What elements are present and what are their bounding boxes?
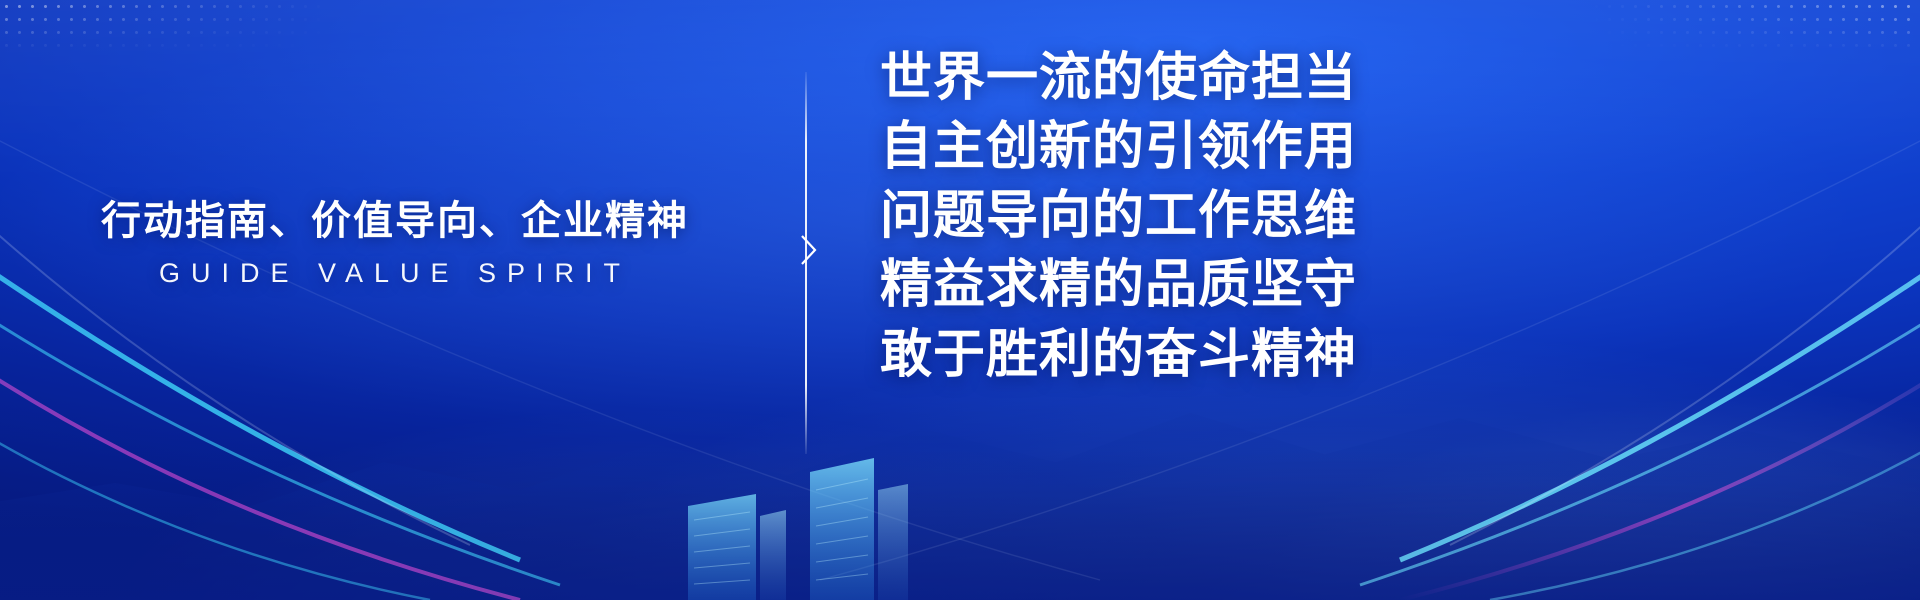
right-line-3: 问题导向的工作思维 xyxy=(880,182,1400,251)
right-line-1: 世界一流的使命担当 xyxy=(880,44,1400,113)
right-line-5: 敢于胜利的奋斗精神 xyxy=(880,321,1400,390)
left-subtitle-en: GUIDE VALUE SPIRIT xyxy=(0,258,790,289)
right-line-2: 自主创新的引领作用 xyxy=(880,113,1400,182)
chevron-right-icon xyxy=(798,232,820,268)
right-line-4: 精益求精的品质坚守 xyxy=(880,251,1400,320)
left-title-cn: 行动指南、价值导向、企业精神 xyxy=(0,198,790,244)
left-text-block: 行动指南、价值导向、企业精神 GUIDE VALUE SPIRIT xyxy=(0,198,790,289)
dot-grid-icon xyxy=(1590,0,1920,52)
dot-grid-icon xyxy=(0,0,330,52)
city-buildings-icon xyxy=(660,420,990,600)
hero-banner: 行动指南、价值导向、企业精神 GUIDE VALUE SPIRIT 世界一流的使… xyxy=(0,0,1920,600)
right-text-block: 世界一流的使命担当 自主创新的引领作用 问题导向的工作思维 精益求精的品质坚守 … xyxy=(880,44,1400,390)
